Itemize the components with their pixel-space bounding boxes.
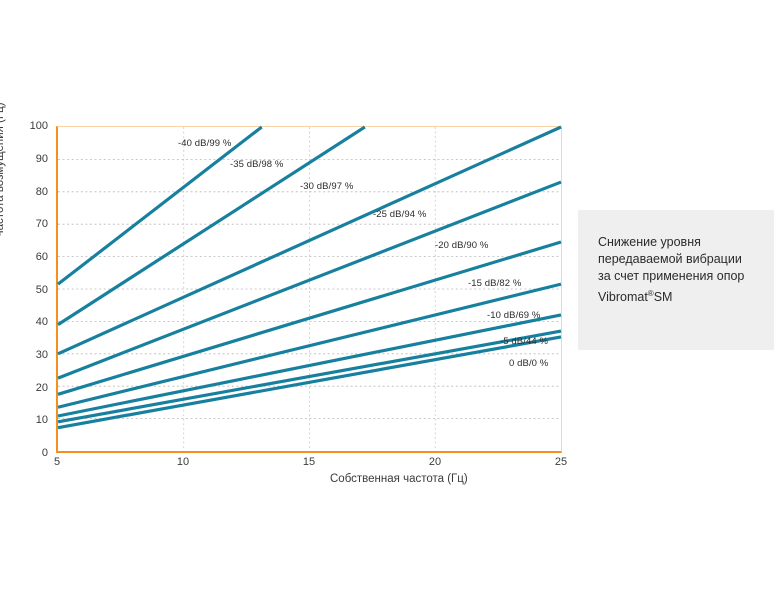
y-tick-70: 70: [0, 218, 48, 230]
caption-text: Снижение уровня передаваемой вибрации за…: [598, 234, 763, 306]
caption-line-2: передаваемой вибрации: [598, 251, 763, 268]
series-label-40db: -40 dB/99 %: [178, 138, 231, 149]
y-tick-90: 90: [0, 153, 48, 165]
chart-container: Частота возмущения (Гц) 100 90 80 70 60 …: [0, 0, 580, 500]
x-axis-label: Собственная частота (Гц): [330, 473, 468, 485]
y-tick-20: 20: [0, 382, 48, 394]
plot-svg: [58, 127, 561, 451]
y-tick-60: 60: [0, 251, 48, 263]
caption-line-4: Vibromat®SM: [598, 285, 763, 306]
x-tick-10: 10: [163, 456, 203, 468]
x-tick-15: 15: [289, 456, 329, 468]
x-tick-5: 5: [37, 456, 77, 468]
plot-area: [56, 126, 562, 453]
y-tick-10: 10: [0, 414, 48, 426]
series-label-25db: -25 dB/94 %: [373, 209, 426, 220]
caption-line-3: за счет применения опор: [598, 268, 763, 285]
caption-panel: Снижение уровня передаваемой вибрации за…: [578, 210, 774, 350]
caption-line-1: Снижение уровня: [598, 234, 763, 251]
series-label-5db: -5 dB/44 %: [500, 336, 548, 347]
series-label-10db: -10 dB/69 %: [487, 310, 540, 321]
x-tick-25: 25: [541, 456, 581, 468]
y-tick-50: 50: [0, 284, 48, 296]
series-label-30db: -30 dB/97 %: [300, 181, 353, 192]
series-label-15db: -15 dB/82 %: [468, 278, 521, 289]
series-label-20db: -20 dB/90 %: [435, 240, 488, 251]
product-suffix: SM: [654, 290, 673, 304]
series-label-35db: -35 dB/98 %: [230, 159, 283, 170]
horizontal-gridlines: [58, 159, 561, 418]
y-axis-label: Частота возмущения (Гц): [0, 38, 6, 238]
chart-page: Частота возмущения (Гц) 100 90 80 70 60 …: [0, 0, 774, 590]
x-tick-20: 20: [415, 456, 455, 468]
y-tick-30: 30: [0, 349, 48, 361]
product-name: Vibromat: [598, 290, 648, 304]
y-tick-40: 40: [0, 316, 48, 328]
y-tick-100: 100: [0, 120, 48, 132]
y-tick-80: 80: [0, 186, 48, 198]
series-label-0db: 0 dB/0 %: [509, 358, 548, 369]
